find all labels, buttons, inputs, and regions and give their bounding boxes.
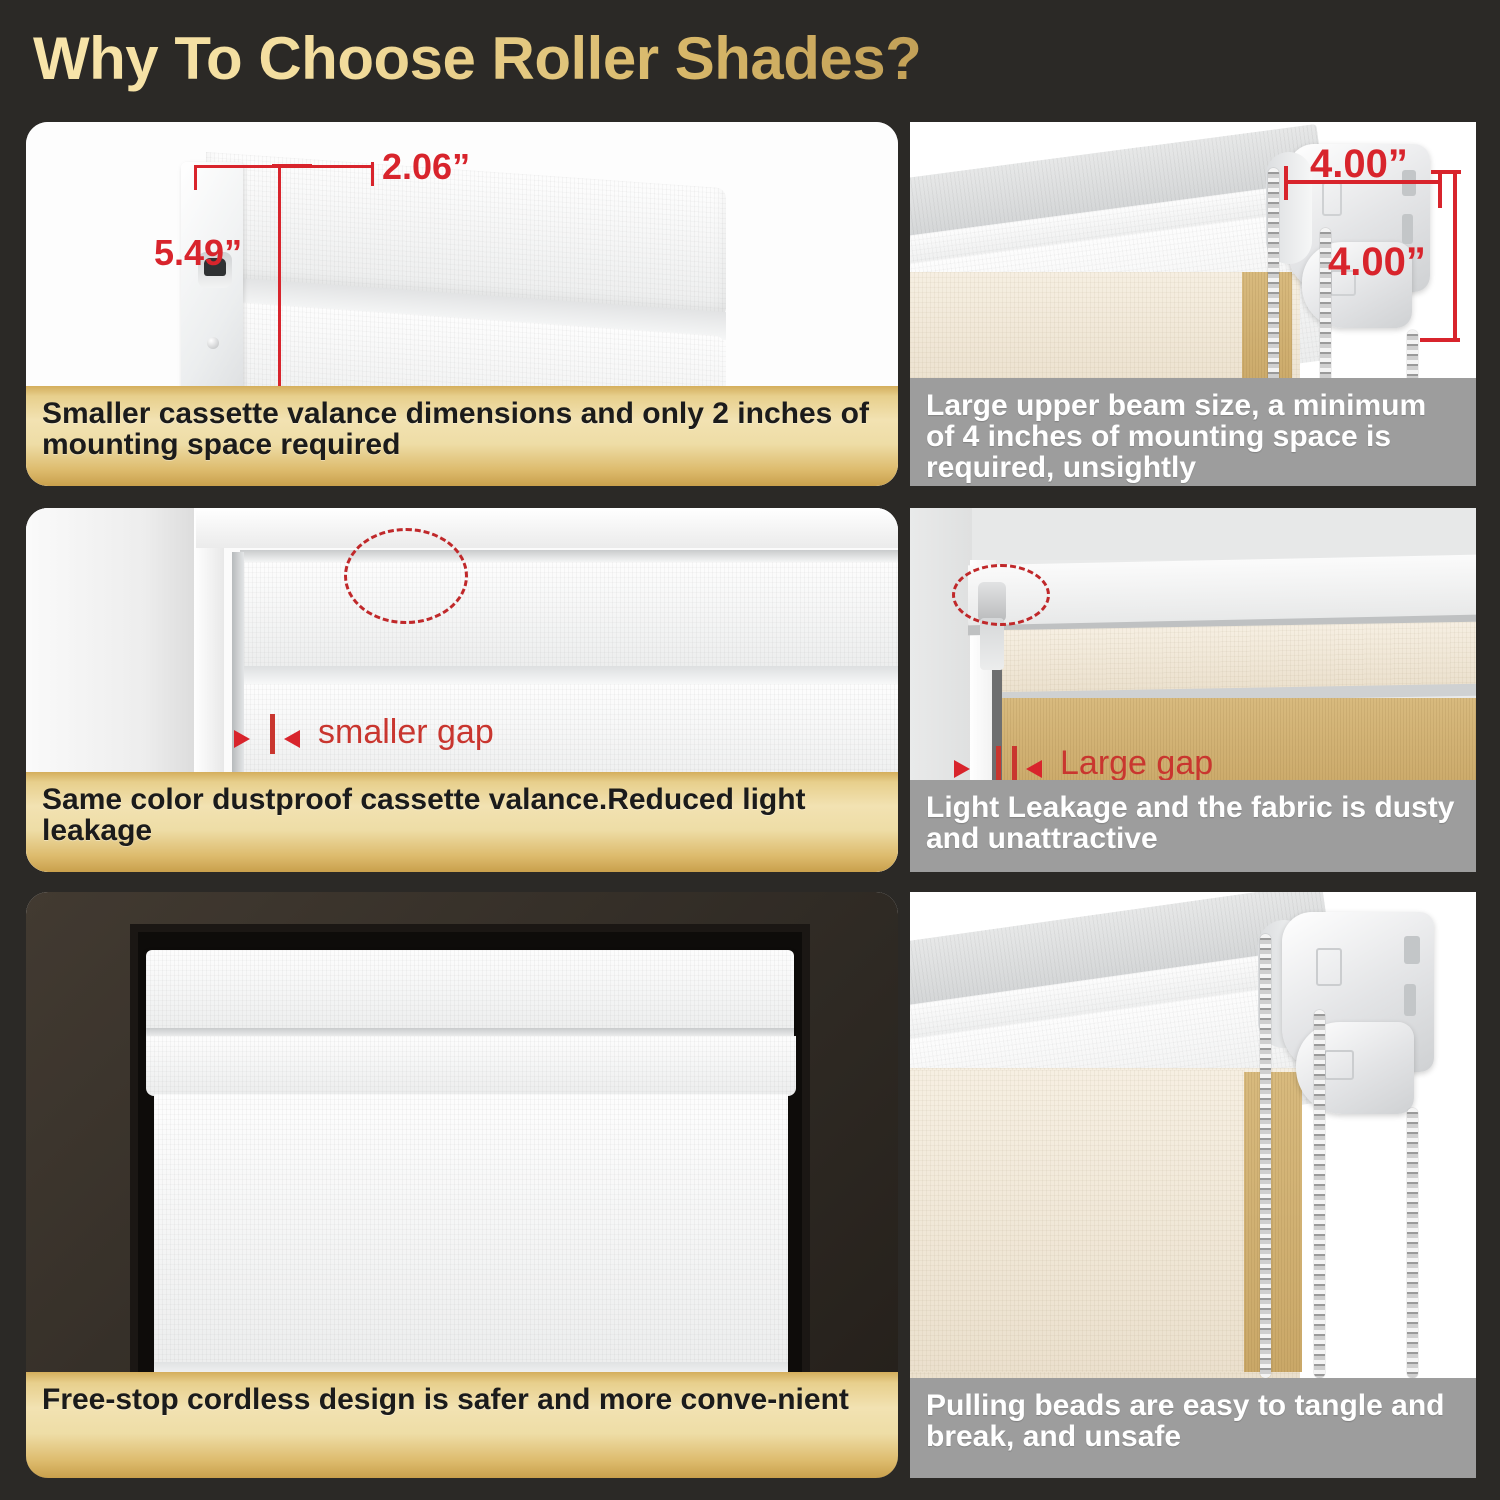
caption-top-left: Smaller cassette valance dimensions and …	[26, 386, 898, 486]
panel-top-right: 4.00” 4.00” Large upper beam size, a min…	[910, 122, 1476, 486]
beam-height-rule	[1453, 170, 1457, 342]
gap-callout-label: smaller gap	[318, 713, 494, 752]
caption-middle-left: Same color dustproof cassette valance.Re…	[26, 772, 898, 872]
panel-middle-left: smaller gap Same color dustproof cassett…	[26, 508, 898, 872]
panel-middle-right: Large gap Light Leakage and the fabric i…	[910, 508, 1476, 872]
panel-bottom-left: Free-stop cordless design is safer and m…	[26, 892, 898, 1478]
bead-chain	[1260, 934, 1271, 1378]
gap-arrow-right	[1026, 760, 1042, 778]
bead-chain	[1407, 1108, 1418, 1378]
height-dimension-label: 5.49”	[154, 232, 242, 274]
beam-width-label: 4.00”	[1310, 142, 1408, 187]
width-dimension-label: 2.06”	[382, 146, 470, 188]
gap-highlight-ellipse	[952, 564, 1050, 626]
page-title: Why To Choose Roller Shades?	[33, 24, 921, 93]
gap-highlight-ellipse	[344, 528, 468, 624]
caption-bottom-left: Free-stop cordless design is safer and m…	[26, 1372, 898, 1478]
height-dimension-top-tick	[272, 164, 312, 167]
gap-arrow-left	[234, 730, 250, 748]
panel-bottom-right: Pulling beads are easy to tangle and bre…	[910, 892, 1476, 1478]
panel-top-left: 2.06” 5.49” Smaller cassette valance dim…	[26, 122, 898, 486]
bead-chain	[1314, 1010, 1325, 1378]
caption-top-right: Large upper beam size, a minimum of 4 in…	[910, 378, 1476, 486]
gap-arrow-left	[954, 760, 970, 778]
beam-height-label: 4.00”	[1328, 240, 1426, 285]
infographic-page: Why To Choose Roller Shades? 2.06”	[0, 0, 1500, 1500]
caption-bottom-right: Pulling beads are easy to tangle and bre…	[910, 1378, 1476, 1478]
gap-arrow-right	[284, 730, 300, 748]
caption-middle-right: Light Leakage and the fabric is dusty an…	[910, 780, 1476, 872]
gap-callout-label: Large gap	[1060, 744, 1213, 783]
width-dimension-line	[194, 168, 197, 190]
width-dimension-end	[371, 162, 374, 186]
bead-chain	[1268, 168, 1279, 398]
